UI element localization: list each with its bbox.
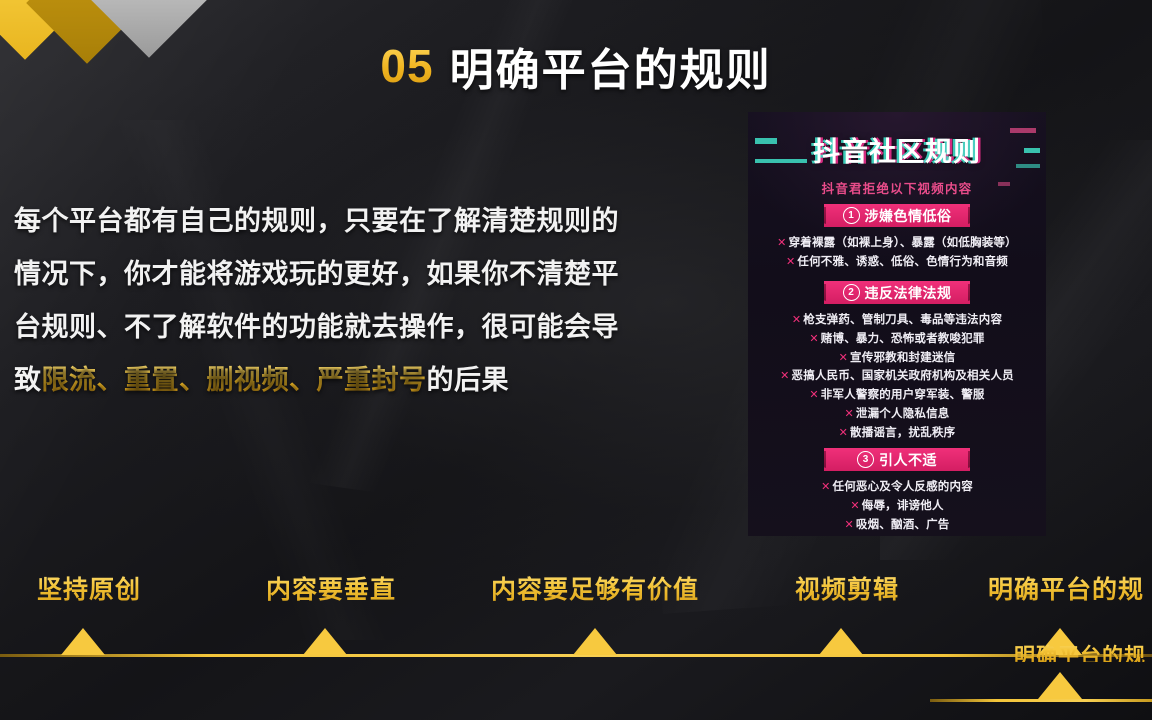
rule-text: 泄漏个人隐私信息 — [856, 408, 950, 420]
section-number: 3 — [857, 451, 874, 468]
cross-icon: ✕ — [844, 408, 853, 420]
slide-root: 05明确平台的规则 每个平台都有自己的规则，只要在了解清楚规则的 情况下，你才能… — [0, 0, 1152, 720]
cross-icon: ✕ — [844, 519, 853, 531]
body-line-suffix: 的后果 — [427, 365, 510, 395]
title-number: 05 — [380, 40, 433, 92]
rule-item: ✕穿着裸露（如裸上身）、暴露（如低胸装等） — [748, 234, 1046, 253]
section-label: 违反法律法规 — [865, 283, 952, 303]
cross-icon: ✕ — [777, 237, 786, 249]
rule-item: ✕吸烟、酗酒、广告 — [748, 516, 1046, 535]
rule-item: ✕赌博、暴力、恐怖或者教唆犯罪 — [748, 330, 1046, 349]
section-number: 2 — [843, 284, 860, 301]
cross-icon: ✕ — [839, 352, 848, 364]
poster-section: 2 违反法律法规 ✕枪支弹药、管制刀具、毒品等违法内容 ✕赌博、暴力、恐怖或者教… — [748, 281, 1046, 443]
poster-section: 1 涉嫌色情低俗 ✕穿着裸露（如裸上身）、暴露（如低胸装等） ✕任何不雅、诱惑、… — [748, 204, 1046, 272]
body-line-highlight: 限流、重置、删视频、严重封号 — [42, 365, 427, 395]
page-title: 05明确平台的规则 — [0, 34, 1152, 98]
section-ribbon: 1 涉嫌色情低俗 — [824, 204, 970, 227]
timeline-ghost-overlap: 明确平台的规 — [892, 634, 1152, 720]
rule-item: ✕泄漏个人隐私信息 — [748, 405, 1046, 424]
timeline-marker-triangle — [573, 628, 617, 655]
timeline-ghost-baseline — [930, 699, 1152, 702]
body-line-highlighted: 致限流、重置、删视频、严重封号的后果 — [14, 367, 714, 394]
timeline-label: 内容要足够有价值 — [470, 570, 720, 606]
rule-text: 侮辱，诽谤他人 — [862, 500, 944, 512]
rule-text: 吸烟、酗酒、广告 — [856, 519, 950, 531]
timeline-ghost-triangle — [1038, 672, 1082, 699]
poster-title: 抖音社区规则 — [748, 130, 1046, 169]
rule-text: 宣传邪教和封建迷信 — [850, 352, 955, 364]
rule-item: ✕任何恶心及令人反感的内容 — [748, 478, 1046, 497]
timeline-marker-triangle — [61, 628, 105, 655]
timeline-ghost-label: 明确平台的规 — [1014, 640, 1146, 662]
section-ribbon: 3 引人不适 — [824, 448, 970, 471]
body-copy: 每个平台都有自己的规则，只要在了解清楚规则的 情况下，你才能将游戏玩的更好，如果… — [14, 208, 714, 394]
timeline-label: 视频剪辑 — [752, 570, 942, 606]
title-text: 明确平台的规则 — [450, 46, 772, 95]
section-items: ✕穿着裸露（如裸上身）、暴露（如低胸装等） ✕任何不雅、诱惑、低俗、色情行为和音… — [748, 234, 1046, 272]
rule-text: 散播谣言，扰乱秩序 — [850, 427, 955, 439]
rule-text: 枪支弹药、管制刀具、毒品等违法内容 — [803, 314, 1002, 326]
rule-item: ✕任何不雅、诱惑、低俗、色情行为和音频 — [748, 253, 1046, 272]
rule-text: 穿着裸露（如裸上身）、暴露（如低胸装等） — [789, 237, 1017, 249]
section-number: 1 — [843, 207, 860, 224]
timeline-label: 内容要垂直 — [236, 570, 426, 606]
cross-icon: ✕ — [780, 370, 789, 382]
section-label: 引人不适 — [879, 450, 937, 470]
rule-text: 非军人警察的用户穿军装、警服 — [821, 389, 985, 401]
timeline-item-4[interactable]: 视频剪辑 — [752, 570, 942, 606]
cross-icon: ✕ — [792, 314, 801, 326]
rule-text: 赌博、暴力、恐怖或者教唆犯罪 — [821, 333, 985, 345]
timeline-marker-triangle — [819, 628, 863, 655]
body-line-prefix: 致 — [14, 365, 42, 395]
timeline-item-1[interactable]: 坚持原创 — [0, 570, 184, 606]
timeline-label: 坚持原创 — [0, 570, 184, 606]
rule-text: 恶搞人民币、国家机关政府机构及相关人员 — [792, 370, 1014, 382]
rule-item: ✕非军人警察的用户穿军装、警服 — [748, 386, 1046, 405]
timeline-item-3[interactable]: 内容要足够有价值 — [470, 570, 720, 606]
section-items: ✕任何恶心及令人反感的内容 ✕侮辱，诽谤他人 ✕吸烟、酗酒、广告 — [748, 478, 1046, 534]
cross-icon: ✕ — [850, 500, 859, 512]
section-ribbon: 2 违反法律法规 — [824, 281, 970, 304]
section-label: 涉嫌色情低俗 — [865, 206, 952, 226]
cross-icon: ✕ — [786, 256, 795, 268]
cross-icon: ✕ — [809, 333, 818, 345]
body-line: 情况下，你才能将游戏玩的更好，如果你不清楚平 — [14, 261, 714, 288]
poster-subtitle: 抖音君拒绝以下视频内容 — [748, 178, 1046, 197]
rule-text: 任何恶心及令人反感的内容 — [833, 481, 973, 493]
rule-item: ✕宣传邪教和封建迷信 — [748, 349, 1046, 368]
douyin-rules-poster: 抖音社区规则 抖音君拒绝以下视频内容 1 涉嫌色情低俗 ✕穿着裸露（如裸上身）、… — [748, 112, 1046, 536]
cross-icon: ✕ — [809, 389, 818, 401]
rule-item: ✕散播谣言，扰乱秩序 — [748, 424, 1046, 443]
rule-item: ✕恶搞人民币、国家机关政府机构及相关人员 — [748, 367, 1046, 386]
timeline-label: 明确平台的规 — [956, 570, 1152, 606]
timeline-item-5-active[interactable]: 明确平台的规 — [956, 570, 1152, 606]
timeline-marker-triangle — [303, 628, 347, 655]
rule-item: ✕枪支弹药、管制刀具、毒品等违法内容 — [748, 311, 1046, 330]
poster-section: 3 引人不适 ✕任何恶心及令人反感的内容 ✕侮辱，诽谤他人 ✕吸烟、酗酒、广告 — [748, 448, 1046, 534]
rule-item: ✕侮辱，诽谤他人 — [748, 497, 1046, 516]
timeline-item-2[interactable]: 内容要垂直 — [236, 570, 426, 606]
body-line: 台规则、不了解软件的功能就去操作，很可能会导 — [14, 314, 714, 341]
cross-icon: ✕ — [839, 427, 848, 439]
rule-text: 任何不雅、诱惑、低俗、色情行为和音频 — [797, 256, 1008, 268]
section-items: ✕枪支弹药、管制刀具、毒品等违法内容 ✕赌博、暴力、恐怖或者教唆犯罪 ✕宣传邪教… — [748, 311, 1046, 443]
cross-icon: ✕ — [821, 481, 830, 493]
timeline-nav: 坚持原创 内容要垂直 内容要足够有价值 视频剪辑 明确平台的规 明确平台的规 — [0, 570, 1152, 720]
body-line: 每个平台都有自己的规则，只要在了解清楚规则的 — [14, 208, 714, 235]
